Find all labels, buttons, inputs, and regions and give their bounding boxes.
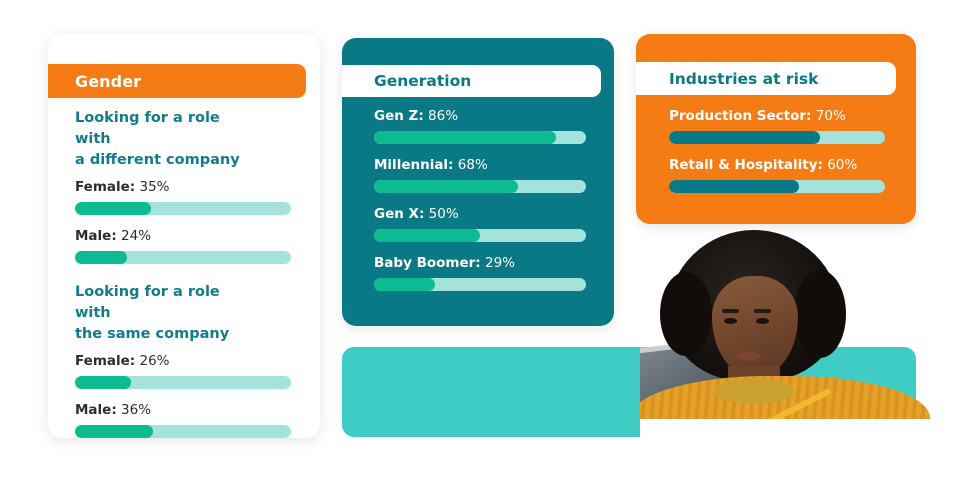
generation-row3-name: Baby Boomer: xyxy=(374,255,481,271)
gender-g1-row1-bar-fill xyxy=(75,425,153,438)
card-generation: Generation Gen Z: 86% Millennial: 68% xyxy=(342,38,614,326)
generation-row2-label: Gen X: 50% xyxy=(374,206,596,222)
generation-row3-bar xyxy=(374,278,586,291)
gender-g0-row0-label: Female: 35% xyxy=(75,179,298,195)
metric-row: Female: 26% xyxy=(75,353,298,389)
metric-row: Production Sector: 70% xyxy=(669,108,898,144)
card-generation-header-tab: Generation xyxy=(342,65,601,97)
generation-row3-bar-fill xyxy=(374,278,435,291)
card-gender: Gender Looking for a role with a differe… xyxy=(48,34,320,438)
generation-row3-label: Baby Boomer: 29% xyxy=(374,255,596,271)
industries-row0-label: Production Sector: 70% xyxy=(669,108,898,124)
industries-row1-label: Retail & Hospitality: 60% xyxy=(669,157,898,173)
gender-g0-row1-name: Male: xyxy=(75,228,117,244)
eyebrow-right xyxy=(754,309,771,313)
generation-row1-value: 68% xyxy=(458,157,488,173)
generation-row1-bar xyxy=(374,180,586,193)
card-industries-body: Production Sector: 70% Retail & Hospital… xyxy=(669,108,898,206)
gender-g0-row1-bar xyxy=(75,251,291,264)
gender-g0-row1-value: 24% xyxy=(121,228,151,244)
gender-group-heading-1-line1: Looking for a role with xyxy=(75,284,220,321)
generation-row0-bar xyxy=(374,131,586,144)
metric-row: Gen X: 50% xyxy=(374,206,596,242)
gender-g1-row1-value: 36% xyxy=(121,402,151,418)
metric-row: Gen Z: 86% xyxy=(374,108,596,144)
metric-row: Retail & Hospitality: 60% xyxy=(669,157,898,193)
metric-row: Millennial: 68% xyxy=(374,157,596,193)
gender-g1-row1-name: Male: xyxy=(75,402,117,418)
generation-row0-value: 86% xyxy=(428,108,458,124)
card-generation-body: Gen Z: 86% Millennial: 68% Gen X: xyxy=(374,108,596,304)
gender-group-heading-1-line2: the same company xyxy=(75,326,229,342)
collar-shape xyxy=(714,378,794,404)
industries-row1-bar xyxy=(669,180,885,193)
generation-row2-bar xyxy=(374,229,586,242)
metric-row: Female: 35% xyxy=(75,179,298,215)
card-industries-title: Industries at risk xyxy=(669,70,818,88)
gender-g1-row0-value: 26% xyxy=(140,353,170,369)
photo-bottom-fade xyxy=(640,419,940,441)
mouth-shape xyxy=(735,352,761,361)
metric-row: Male: 24% xyxy=(75,228,298,264)
generation-row2-value: 50% xyxy=(429,206,459,222)
card-gender-body: Looking for a role with a different comp… xyxy=(75,108,298,451)
industries-row1-name: Retail & Hospitality: xyxy=(669,157,823,173)
card-gender-header-tab: Gender xyxy=(48,64,306,98)
generation-row1-bar-fill xyxy=(374,180,518,193)
generation-row1-name: Millennial: xyxy=(374,157,453,173)
industries-row0-name: Production Sector: xyxy=(669,108,811,124)
gender-g0-row0-bar-fill xyxy=(75,202,151,215)
gender-g1-row1-label: Male: 36% xyxy=(75,402,298,418)
generation-row1-label: Millennial: 68% xyxy=(374,157,596,173)
gender-g1-row0-label: Female: 26% xyxy=(75,353,298,369)
gender-g0-row0-name: Female: xyxy=(75,179,135,195)
generation-row2-bar-fill xyxy=(374,229,480,242)
industries-row1-value: 60% xyxy=(827,157,857,173)
eye-right xyxy=(756,318,769,324)
infographic-stage: Gender Looking for a role with a differe… xyxy=(0,0,960,480)
woman-studying-photo xyxy=(640,226,940,441)
metric-row: Male: 36% xyxy=(75,402,298,438)
gender-g0-row0-value: 35% xyxy=(140,179,170,195)
gender-g1-row0-name: Female: xyxy=(75,353,135,369)
card-gender-title: Gender xyxy=(75,72,141,91)
gender-group-heading-0: Looking for a role with a different comp… xyxy=(75,108,255,171)
generation-row3-value: 29% xyxy=(485,255,515,271)
gender-group-heading-1: Looking for a role with the same company xyxy=(75,282,255,345)
card-industries-header-tab: Industries at risk xyxy=(636,62,896,95)
eyebrow-left xyxy=(722,309,739,313)
gender-g1-row1-bar xyxy=(75,425,291,438)
gender-g1-row0-bar-fill xyxy=(75,376,131,389)
gender-group-heading-0-line1: Looking for a role with xyxy=(75,110,220,147)
generation-row0-bar-fill xyxy=(374,131,556,144)
generation-row2-name: Gen X: xyxy=(374,206,424,222)
industries-row0-bar xyxy=(669,131,885,144)
metric-row: Baby Boomer: 29% xyxy=(374,255,596,291)
industries-row1-bar-fill xyxy=(669,180,799,193)
gender-g0-row1-bar-fill xyxy=(75,251,127,264)
card-industries-at-risk: Industries at risk Production Sector: 70… xyxy=(636,34,916,224)
generation-row0-name: Gen Z: xyxy=(374,108,424,124)
eye-left xyxy=(724,318,737,324)
gender-group-heading-0-line2: a different company xyxy=(75,152,240,168)
gender-g0-row1-label: Male: 24% xyxy=(75,228,298,244)
industries-row0-bar-fill xyxy=(669,131,820,144)
card-generation-title: Generation xyxy=(374,72,471,90)
gender-g0-row0-bar xyxy=(75,202,291,215)
gender-g1-row0-bar xyxy=(75,376,291,389)
industries-row0-value: 70% xyxy=(816,108,846,124)
generation-row0-label: Gen Z: 86% xyxy=(374,108,596,124)
